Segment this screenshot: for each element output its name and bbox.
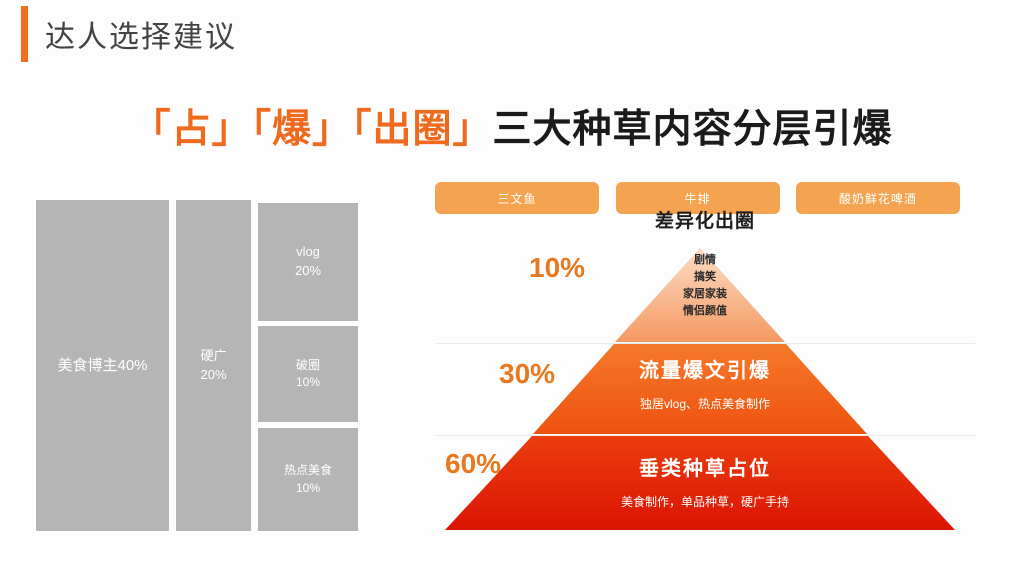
page-header: 达人选择建议 (0, 0, 1024, 70)
treemap-cell-hot-food[interactable]: 热点美食 10% (258, 428, 358, 531)
treemap-cell-value: 10% (296, 374, 320, 391)
pyramid-percent-middle: 30% (499, 358, 555, 390)
headline-rest: 三大种草内容分层引爆 (493, 108, 893, 151)
pyramid-tier-top[interactable] (615, 248, 785, 342)
page-title: 达人选择建议 (45, 12, 237, 56)
pyramid-percent-bottom: 60% (445, 448, 501, 480)
headline: 「占」「爆」「出圈」三大种草内容分层引爆 (0, 98, 1024, 154)
treemap-cell-value: 10% (296, 480, 320, 497)
treemap-cell-food-blogger[interactable]: 美食博主40% (36, 200, 169, 531)
tag-row: 三文鱼 牛排 酸奶鲜花啤酒 (435, 182, 960, 214)
tag-button-salmon[interactable]: 三文鱼 (435, 182, 599, 214)
pyramid-tier-middle[interactable] (533, 344, 867, 434)
treemap-cell-label: 破圈 (296, 357, 320, 374)
pyramid-tier-bottom[interactable] (445, 436, 955, 530)
treemap-cell-hard-ad[interactable]: 硬广 20% (176, 200, 251, 531)
treemap-cell-vlog[interactable]: vlog 20% (258, 203, 358, 321)
treemap-cell-value: 20% (295, 262, 321, 281)
treemap-cell-label: 热点美食 (284, 462, 332, 479)
tag-button-steak[interactable]: 牛排 (616, 182, 780, 214)
slide-canvas: 达人选择建议 「占」「爆」「出圈」三大种草内容分层引爆 美食博主40% 硬广 2… (0, 0, 1024, 577)
pyramid-percent-top: 10% (529, 252, 585, 284)
treemap-cell-breakout[interactable]: 破圈 10% (258, 326, 358, 422)
pyramid-panel: 三文鱼 牛排 酸奶鲜花啤酒 (425, 170, 985, 550)
pyramid-diagram: 10% 30% 60% 差异化出圈 剧情 搞笑 家居家装 情侣颜值 流量爆文引爆… (425, 230, 985, 540)
headline-highlight: 「占」「爆」「出圈」 (131, 108, 492, 151)
treemap-chart: 美食博主40% 硬广 20% vlog 20% 破圈 10% 热点美食 10% (36, 197, 384, 531)
treemap-cell-label: 硬广 (200, 347, 226, 366)
header-accent-bar (21, 6, 28, 62)
tag-button-yogurt-flower-beer[interactable]: 酸奶鲜花啤酒 (796, 182, 960, 214)
treemap-cell-label: 美食博主40% (57, 355, 147, 377)
treemap-cell-label: vlog (296, 243, 320, 262)
treemap-cell-value: 20% (200, 366, 226, 385)
